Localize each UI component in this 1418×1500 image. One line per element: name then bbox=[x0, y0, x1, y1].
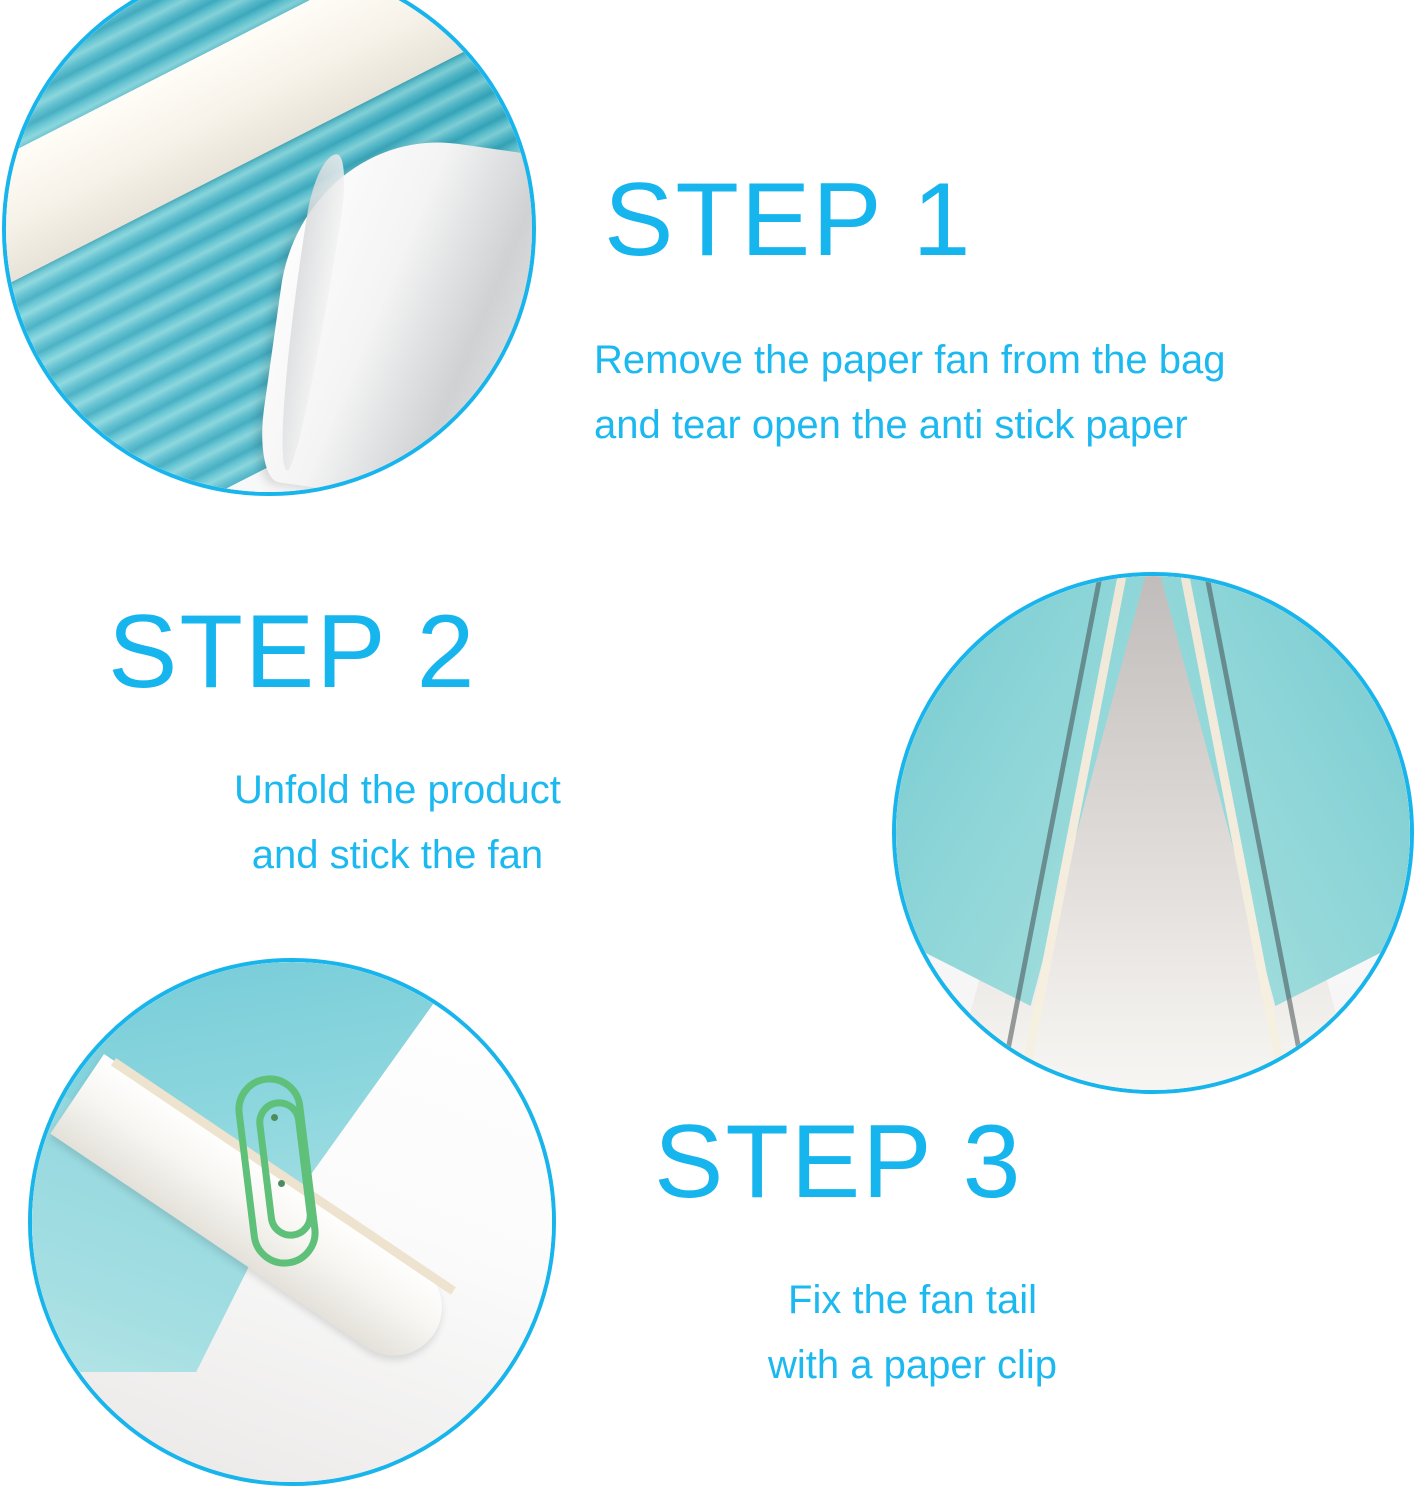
step-2-heading: STEP 2 bbox=[108, 600, 476, 704]
step-2-photo bbox=[892, 572, 1414, 1094]
step-3-description: Fix the fan tail with a paper clip bbox=[768, 1268, 1057, 1398]
step-1-photo bbox=[2, 0, 536, 496]
step-1-description-line-1: Remove the paper fan from the bag bbox=[594, 328, 1225, 393]
step-1-photo-inner bbox=[6, 0, 532, 492]
step-2-description-line-2: and stick the fan bbox=[234, 823, 561, 888]
paper-clip-contact-point-lower bbox=[278, 1180, 285, 1187]
step-3-description-line-2: with a paper clip bbox=[768, 1333, 1057, 1398]
step-2-photo-inner bbox=[896, 576, 1410, 1090]
step-1-heading: STEP 1 bbox=[604, 168, 972, 272]
instruction-graphic: STEP 1 Remove the paper fan from the bag… bbox=[0, 0, 1418, 1500]
step-2-description: Unfold the product and stick the fan bbox=[234, 758, 561, 888]
step-3-description-line-1: Fix the fan tail bbox=[768, 1268, 1057, 1333]
step-1-description: Remove the paper fan from the bag and te… bbox=[594, 328, 1225, 458]
paper-clip-contact-point-upper bbox=[271, 1114, 278, 1121]
step-2-description-line-1: Unfold the product bbox=[234, 758, 561, 823]
step-3-heading: STEP 3 bbox=[654, 1110, 1022, 1214]
step-1-description-line-2: and tear open the anti stick paper bbox=[594, 393, 1225, 458]
